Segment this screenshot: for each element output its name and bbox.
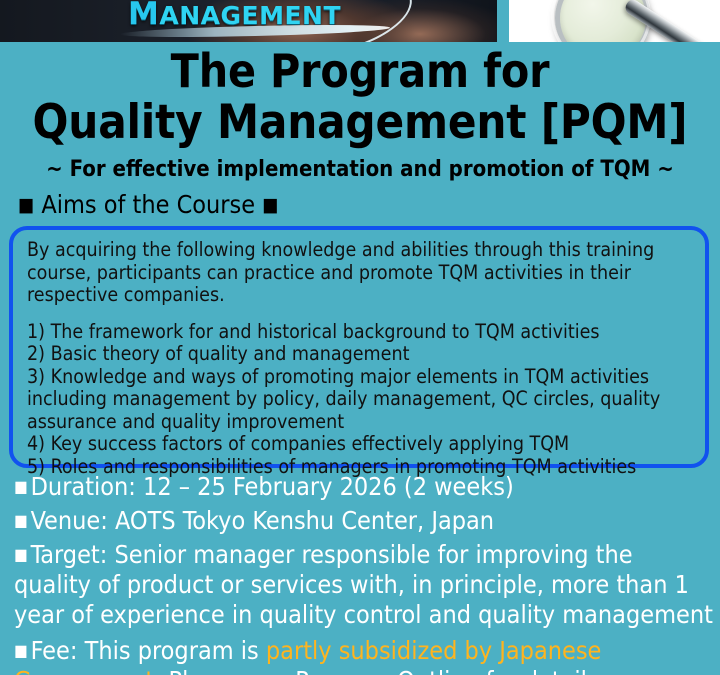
square-bullet-icon: ■: [14, 477, 28, 496]
aims-heading-label: Aims of the Course: [41, 190, 255, 219]
page-title: The Program for Quality Management [PQM]: [0, 46, 720, 148]
detail-duration: ■Duration: 12 – 25 February 2026 (2 week…: [0, 472, 720, 502]
aims-item: 2) Basic theory of quality and managemen…: [27, 343, 691, 366]
aims-content-box: By acquiring the following knowledge and…: [9, 226, 709, 468]
aims-item: 3) Knowledge and ways of promoting major…: [27, 366, 691, 434]
title-line-1: The Program for: [0, 46, 720, 97]
detail-fee: ■Fee: This program is partly subsidized …: [0, 636, 720, 675]
detail-target: ■Target: Senior manager responsible for …: [0, 540, 720, 630]
square-bullet-icon: ■: [14, 545, 28, 564]
aims-intro-text: By acquiring the following knowledge and…: [27, 239, 691, 307]
poster-page: MANAGEMENT The Program for Quality Manag…: [0, 0, 720, 675]
banner-gap: [497, 0, 509, 42]
square-bullet-icon: ■: [18, 194, 34, 216]
aims-heading: ■ Aims of the Course ■: [18, 190, 278, 219]
title-line-2: Quality Management [PQM]: [0, 97, 720, 148]
page-subtitle: ~ For effective implementation and promo…: [0, 157, 720, 182]
detail-fee-prefix: Fee: This program is: [31, 636, 266, 665]
detail-fee-suffix: . Please see Program Outline for details…: [154, 666, 606, 675]
magnifying-glass-photo-icon: [509, 0, 720, 42]
detail-target-text: Target: Senior manager responsible for i…: [14, 540, 713, 629]
detail-venue-text: Venue: AOTS Tokyo Kenshu Center, Japan: [31, 506, 494, 535]
detail-duration-text: Duration: 12 – 25 February 2026 (2 weeks…: [31, 472, 514, 501]
aims-item: 4) Key success factors of companies effe…: [27, 433, 691, 456]
management-wordmark-cap: M: [128, 0, 159, 32]
management-photo-icon: MANAGEMENT: [0, 0, 497, 42]
square-bullet-icon-right: ■: [262, 194, 278, 216]
square-bullet-icon: ■: [14, 641, 28, 660]
header-banner: MANAGEMENT: [0, 0, 720, 42]
aims-item: 1) The framework for and historical back…: [27, 321, 691, 344]
detail-venue: ■Venue: AOTS Tokyo Kenshu Center, Japan: [0, 506, 720, 536]
course-details: ■Duration: 12 – 25 February 2026 (2 week…: [0, 472, 720, 675]
square-bullet-icon: ■: [14, 511, 28, 530]
